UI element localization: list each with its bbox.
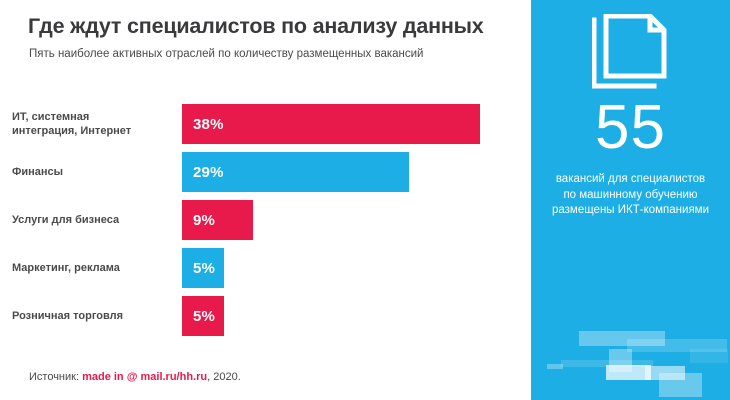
source-prefix: Источник:: [29, 371, 82, 383]
deco-rect: [606, 365, 651, 380]
page-title: Где ждут специалистов по анализу данных: [28, 14, 484, 39]
source-footer: Источник: made in @ mail.ru/hh.ru, 2020.: [29, 371, 241, 383]
bar[interactable]: 9%: [182, 200, 253, 240]
bar-category-label: Маркетинг, реклама: [12, 261, 182, 275]
deco-rect: [579, 331, 665, 346]
bar-category-label: Финансы: [12, 165, 182, 179]
bar[interactable]: 38%: [182, 104, 480, 144]
main-content-panel: Где ждут специалистов по анализу данных …: [0, 0, 531, 400]
highlight-number: 55: [531, 96, 730, 160]
bar-category-label: ИТ, системнаяинтеграция, Интернет: [12, 110, 182, 138]
bar-chart: ИТ, системнаяинтеграция, Интернет38%Фина…: [0, 104, 531, 344]
bar-value-label: 38%: [182, 116, 224, 133]
deco-rect: [609, 349, 632, 372]
deco-rect: [561, 360, 653, 367]
documents-icon: [592, 14, 670, 94]
bar-category-label: Услуги для бизнеса: [12, 213, 182, 227]
bar-category-label: Розничная торговля: [12, 309, 182, 323]
bar[interactable]: 5%: [182, 296, 224, 336]
source-link[interactable]: made in @ mail.ru/hh.ru: [82, 371, 207, 383]
bar-value-label: 9%: [182, 212, 215, 229]
bar-row: Финансы29%: [0, 152, 531, 200]
infographic-root: Где ждут специалистов по анализу данных …: [0, 0, 730, 400]
bar-category-label-line: ИТ, системная: [12, 110, 182, 124]
bar-value-label: 29%: [182, 164, 224, 181]
bar-category-label-line: Маркетинг, реклама: [12, 261, 182, 275]
bar-category-label-line: Розничная торговля: [12, 309, 182, 323]
bar-row: Розничная торговля5%: [0, 296, 531, 344]
bar-category-label-line: Финансы: [12, 165, 182, 179]
deco-rect: [645, 366, 685, 380]
bar[interactable]: 5%: [182, 248, 224, 288]
bar-category-label-line: Услуги для бизнеса: [12, 213, 182, 227]
bar-value-label: 5%: [182, 260, 215, 277]
highlight-panel: 55 вакансий для специалистовпо машинному…: [531, 0, 730, 400]
highlight-caption-line: по машинному обучению: [531, 188, 730, 204]
deco-rect: [547, 364, 563, 369]
highlight-caption: вакансий для специалистовпо машинному об…: [531, 172, 730, 219]
bar-row: ИТ, системнаяинтеграция, Интернет38%: [0, 104, 531, 152]
page-subtitle: Пять наиболее активных отраслей по колич…: [29, 48, 423, 60]
bar-category-label-line: интеграция, Интернет: [12, 124, 182, 138]
source-suffix: , 2020.: [207, 371, 241, 383]
bar-value-label: 5%: [182, 308, 215, 325]
highlight-caption-line: вакансий для специалистов: [531, 172, 730, 188]
bar-row: Услуги для бизнеса9%: [0, 200, 531, 248]
highlight-caption-line: размещены ИКТ-компаниями: [531, 203, 730, 219]
bar-row: Маркетинг, реклама5%: [0, 248, 531, 296]
deco-rect: [659, 373, 702, 397]
bar[interactable]: 29%: [182, 152, 409, 192]
deco-rect: [627, 339, 727, 352]
deco-rect: [690, 349, 728, 363]
